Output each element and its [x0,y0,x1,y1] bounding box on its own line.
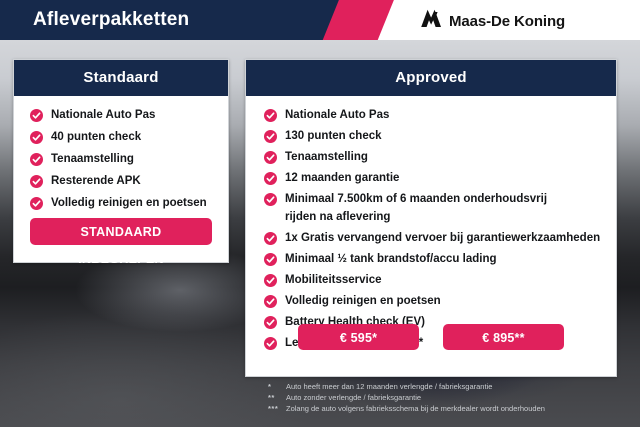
check-circle-icon [264,253,277,266]
list-item: Mobiliteitsservice [264,274,616,287]
list-item: Nationale Auto Pas [30,109,228,122]
list-item-label: Tenaamstelling [51,153,134,165]
footnote-triple-asterisk: *** Zolang de auto volgens fabrieksschem… [268,403,628,414]
list-item-label: Nationale Auto Pas [285,109,389,121]
list-item-label: Tenaamstelling [285,151,368,163]
afleverpakketten-page: Afleverpakketten Maas-De Koning Standaar… [0,0,640,427]
list-item-label: Volledig reinigen en poetsen [51,197,207,209]
list-item: Volledig reinigen en poetsen [30,197,228,210]
brand-logo: Maas-De Koning [420,9,565,33]
maas-de-koning-m-logo-icon [420,9,442,33]
list-item-label: Resterende APK [51,175,141,187]
card-approved-title: Approved [246,60,616,96]
list-item: Nationale Auto Pas [264,109,616,122]
list-item: 130 punten check [264,130,616,143]
check-circle-icon [264,151,277,164]
page-title: Afleverpakketten [33,9,189,31]
card-standaard-feature-list: Nationale Auto Pas 40 punten check Tenaa… [14,96,228,210]
list-item-label: Volledig reinigen en poetsen [285,295,441,307]
footnotes-block: * Auto heeft meer dan 12 maanden verleng… [268,381,628,414]
list-item: Minimaal 7.500km of 6 maanden onderhouds… [264,193,616,224]
standaard-inbegrepen-button[interactable]: STANDAARD INBEGREPEN [30,218,212,245]
list-item-label: Minimaal ½ tank brandstof/accu lading [285,253,497,265]
check-circle-icon [30,131,43,144]
price-button-row: € 595* € 895** [246,324,616,350]
list-item-label: 40 punten check [51,131,141,143]
check-circle-icon [30,109,43,122]
list-item-label-line2: rijden na aflevering [285,211,616,224]
list-item: 1x Gratis vervangend vervoer bij garanti… [264,232,616,245]
list-item-label: Minimaal 7.500km of 6 maanden onderhouds… [285,193,547,205]
check-circle-icon [264,274,277,287]
footnote-text: Auto zonder verlengde / fabrieksgarantie [286,392,421,403]
check-circle-icon [264,172,277,185]
card-standaard-title: Standaard [14,60,228,96]
price-button-595[interactable]: € 595* [298,324,419,350]
list-item: Minimaal ½ tank brandstof/accu lading [264,253,616,266]
list-item-label: 130 punten check [285,130,382,142]
footnote-marker: * [268,381,286,392]
list-item: Resterende APK [30,175,228,188]
card-standaard: Standaard Nationale Auto Pas 40 punten c… [13,59,229,263]
footnote-marker: *** [268,403,286,414]
footnote-double-asterisk: ** Auto zonder verlengde / fabrieksgaran… [268,392,628,403]
check-circle-icon [264,130,277,143]
footnote-text: Zolang de auto volgens fabrieksschema bi… [286,403,545,414]
list-item-label: Nationale Auto Pas [51,109,155,121]
page-header: Afleverpakketten Maas-De Koning [0,0,640,40]
footnote-marker: ** [268,392,286,403]
price-button-895[interactable]: € 895** [443,324,564,350]
list-item: Volledig reinigen en poetsen [264,295,616,308]
list-item: Tenaamstelling [30,153,228,166]
brand-name: Maas-De Koning [449,13,565,30]
list-item: 40 punten check [30,131,228,144]
list-item-label: 1x Gratis vervangend vervoer bij garanti… [285,232,600,244]
list-item: Tenaamstelling [264,151,616,164]
check-circle-icon [30,153,43,166]
check-circle-icon [264,295,277,308]
check-circle-icon [30,197,43,210]
footnote-single-asterisk: * Auto heeft meer dan 12 maanden verleng… [268,381,628,392]
list-item-label: 12 maanden garantie [285,172,399,184]
check-circle-icon [264,193,277,206]
list-item: 12 maanden garantie [264,172,616,185]
check-circle-icon [264,109,277,122]
check-circle-icon [264,232,277,245]
card-approved: Approved Nationale Auto Pas 130 punten c… [245,59,617,377]
check-circle-icon [30,175,43,188]
card-approved-feature-list: Nationale Auto Pas 130 punten check Tena… [246,96,616,350]
list-item-label: Mobiliteitsservice [285,274,382,286]
footnote-text: Auto heeft meer dan 12 maanden verlengde… [286,381,492,392]
